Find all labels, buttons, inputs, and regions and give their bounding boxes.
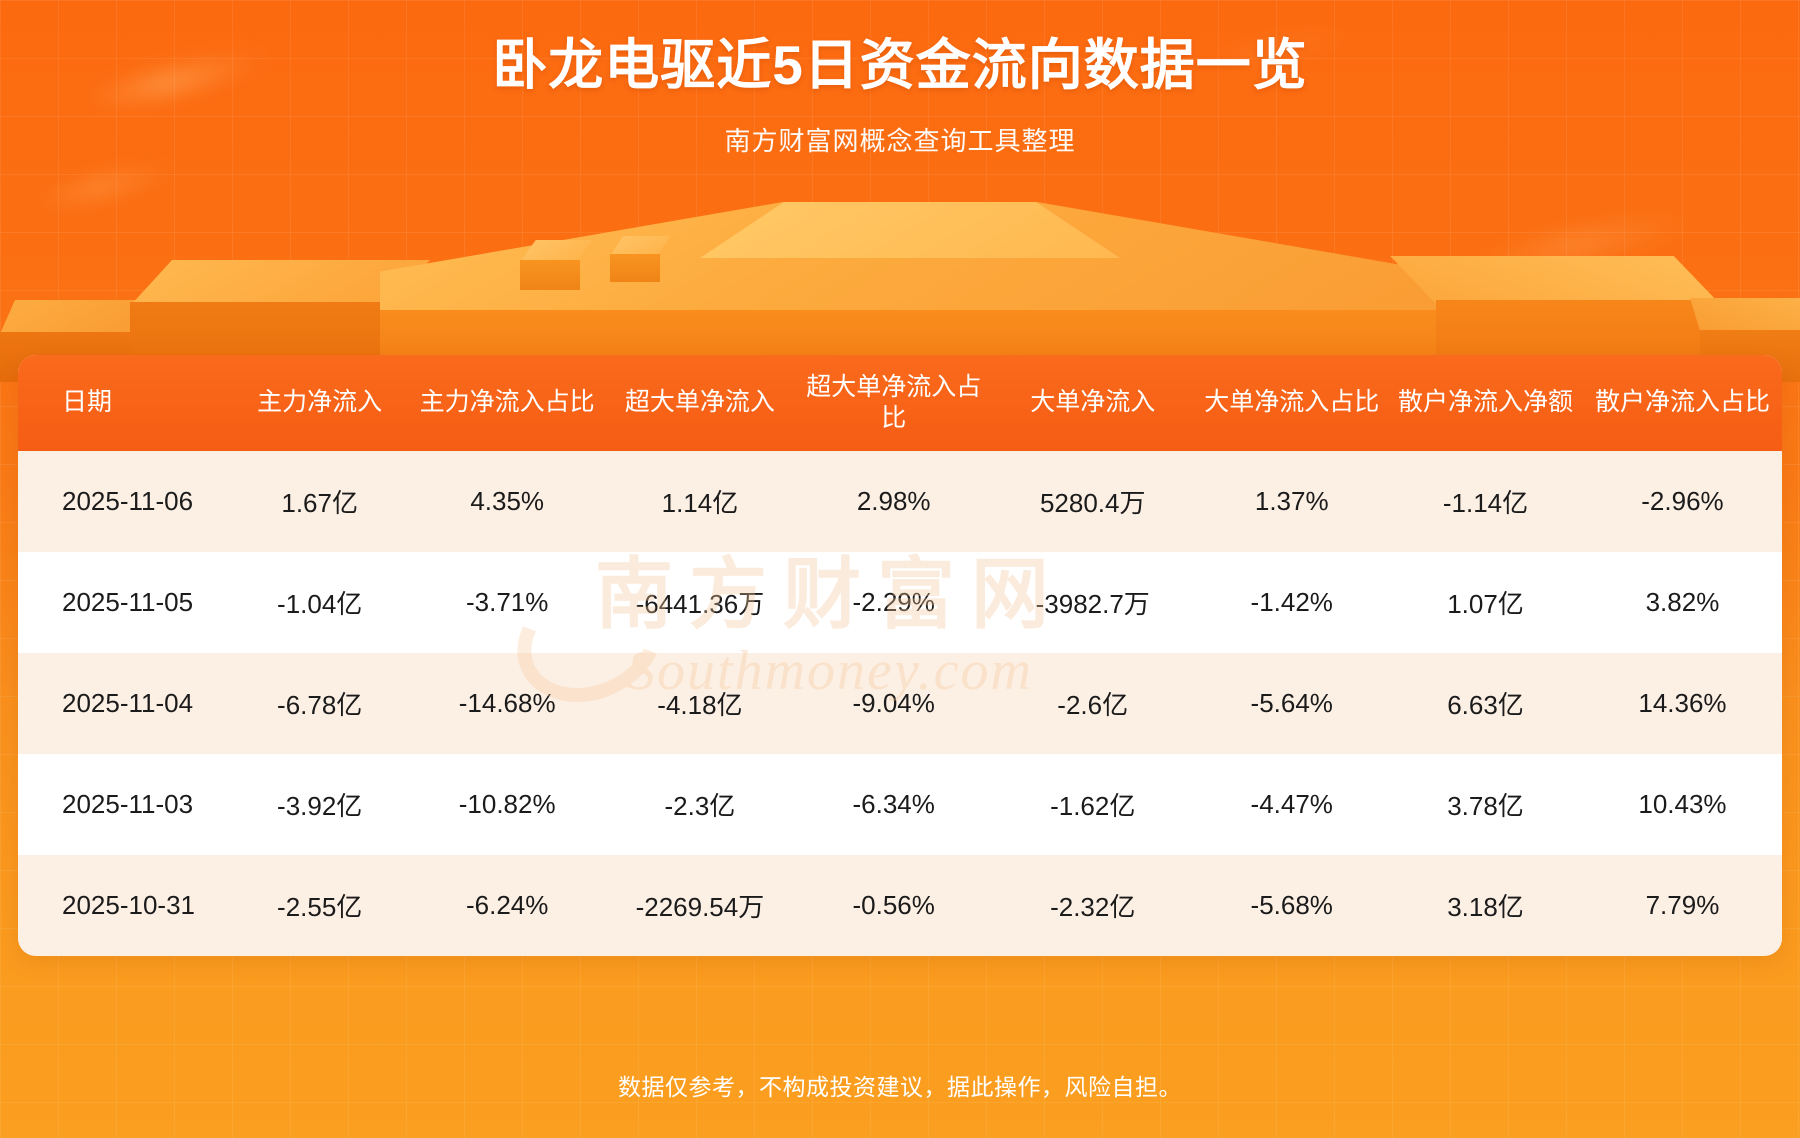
cell-large-net-inflow: -2.6亿 [990,653,1195,754]
cell-super-large-net-inflow-pct: -0.56% [797,855,990,956]
podium-block-right-top [1390,256,1720,304]
cell-retail-net-inflow-pct: -2.96% [1583,451,1782,552]
table-header-row: 日期 主力净流入 主力净流入占比 超大单净流入 超大单净流入占比 大单净流入 大… [18,355,1782,451]
cell-retail-net-inflow-pct: 14.36% [1583,653,1782,754]
cell-large-net-inflow: 5280.4万 [990,451,1195,552]
podium-block-far-left-top [0,300,150,334]
table-row: 2025-11-05-1.04亿-3.71%-6441.36万-2.29%-39… [18,552,1782,653]
cell-main-net-inflow-pct: 4.35% [412,451,603,552]
cell-main-net-inflow: -1.04亿 [228,552,412,653]
cell-main-net-inflow-pct: -14.68% [412,653,603,754]
cell-retail-net-inflow: 1.07亿 [1388,552,1583,653]
column-header-main-net-inflow-pct: 主力净流入占比 [412,355,603,451]
cell-super-large-net-inflow: -2269.54万 [603,855,798,956]
cell-retail-net-inflow: -1.14亿 [1388,451,1583,552]
cell-super-large-net-inflow: -2.3亿 [603,754,798,855]
cell-main-net-inflow: -6.78亿 [228,653,412,754]
cell-main-net-inflow: -3.92亿 [228,754,412,855]
column-header-date: 日期 [18,355,228,451]
cell-date: 2025-10-31 [18,855,228,956]
column-header-large-net-inflow: 大单净流入 [990,355,1195,451]
cell-large-net-inflow: -2.32亿 [990,855,1195,956]
cell-large-net-inflow-pct: -4.47% [1195,754,1388,855]
table-row: 2025-11-03-3.92亿-10.82%-2.3亿-6.34%-1.62亿… [18,754,1782,855]
column-header-large-net-inflow-pct: 大单净流入占比 [1195,355,1388,451]
fund-flow-table: 日期 主力净流入 主力净流入占比 超大单净流入 超大单净流入占比 大单净流入 大… [18,355,1782,956]
cell-retail-net-inflow-pct: 10.43% [1583,754,1782,855]
data-table-card: 日期 主力净流入 主力净流入占比 超大单净流入 超大单净流入占比 大单净流入 大… [18,355,1782,956]
page-title: 卧龙电驱近5日资金流向数据一览 [0,34,1800,97]
cell-super-large-net-inflow: 1.14亿 [603,451,798,552]
cell-date: 2025-11-06 [18,451,228,552]
cell-main-net-inflow-pct: -3.71% [412,552,603,653]
cell-date: 2025-11-03 [18,754,228,855]
podium-illustration [0,190,1800,380]
table-row: 2025-11-04-6.78亿-14.68%-4.18亿-9.04%-2.6亿… [18,653,1782,754]
podium-cube-one-side [520,260,580,290]
cell-date: 2025-11-05 [18,552,228,653]
disclaimer-note: 数据仅参考，不构成投资建议，据此操作，风险自担。 [0,1068,1800,1102]
cell-retail-net-inflow: 6.63亿 [1388,653,1583,754]
table-header: 日期 主力净流入 主力净流入占比 超大单净流入 超大单净流入占比 大单净流入 大… [18,355,1782,451]
cell-large-net-inflow-pct: -5.68% [1195,855,1388,956]
column-header-main-net-inflow: 主力净流入 [228,355,412,451]
cell-super-large-net-inflow-pct: -6.34% [797,754,990,855]
table-row: 2025-11-061.67亿4.35%1.14亿2.98%5280.4万1.3… [18,451,1782,552]
table-row: 2025-10-31-2.55亿-6.24%-2269.54万-0.56%-2.… [18,855,1782,956]
cell-large-net-inflow: -3982.7万 [990,552,1195,653]
cell-date: 2025-11-04 [18,653,228,754]
cell-large-net-inflow-pct: 1.37% [1195,451,1388,552]
page-header: 卧龙电驱近5日资金流向数据一览 南方财富网概念查询工具整理 [0,0,1800,158]
cell-super-large-net-inflow-pct: -9.04% [797,653,990,754]
cell-main-net-inflow-pct: -6.24% [412,855,603,956]
column-header-retail-net-inflow: 散户净流入净额 [1388,355,1583,451]
column-header-super-large-net-inflow-pct: 超大单净流入占比 [797,355,990,451]
cell-super-large-net-inflow-pct: -2.29% [797,552,990,653]
table-body: 2025-11-061.67亿4.35%1.14亿2.98%5280.4万1.3… [18,451,1782,956]
cell-large-net-inflow-pct: -1.42% [1195,552,1388,653]
column-header-super-large-net-inflow: 超大单净流入 [603,355,798,451]
cell-main-net-inflow-pct: -10.82% [412,754,603,855]
cell-super-large-net-inflow: -4.18亿 [603,653,798,754]
cell-retail-net-inflow-pct: 3.82% [1583,552,1782,653]
cell-retail-net-inflow-pct: 7.79% [1583,855,1782,956]
podium-block-far-right-top [1690,298,1800,332]
column-header-retail-net-inflow-pct: 散户净流入占比 [1583,355,1782,451]
cell-retail-net-inflow: 3.18亿 [1388,855,1583,956]
cell-retail-net-inflow: 3.78亿 [1388,754,1583,855]
cell-super-large-net-inflow: -6441.36万 [603,552,798,653]
cell-main-net-inflow: -2.55亿 [228,855,412,956]
podium-cube-two-side [610,254,660,282]
cell-super-large-net-inflow-pct: 2.98% [797,451,990,552]
page-subtitle: 南方财富网概念查询工具整理 [0,121,1800,158]
cell-large-net-inflow-pct: -5.64% [1195,653,1388,754]
cell-main-net-inflow: 1.67亿 [228,451,412,552]
cell-large-net-inflow: -1.62亿 [990,754,1195,855]
